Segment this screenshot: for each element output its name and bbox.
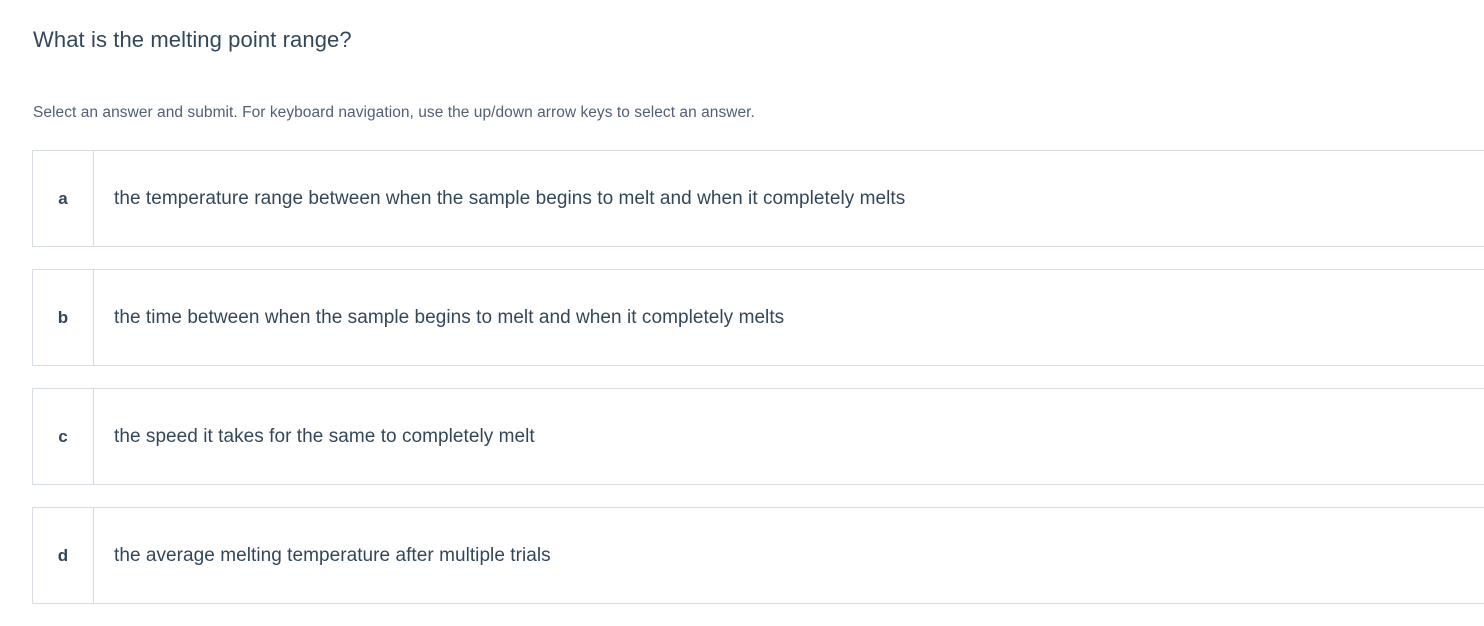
answer-option-a[interactable]: a the temperature range between when the…: [32, 150, 1484, 247]
instruction-text: Select an answer and submit. For keyboar…: [33, 101, 755, 125]
answer-letter-b: b: [33, 270, 94, 365]
quiz-question-page: What is the melting point range? Select …: [0, 0, 1484, 626]
answer-options-list: a the temperature range between when the…: [32, 150, 1484, 626]
answer-text-b: the time between when the sample begins …: [94, 270, 1484, 365]
answer-letter-c: c: [33, 389, 94, 484]
answer-option-d[interactable]: d the average melting temperature after …: [32, 507, 1484, 604]
answer-option-c[interactable]: c the speed it takes for the same to com…: [32, 388, 1484, 485]
answer-text-a: the temperature range between when the s…: [94, 151, 1484, 246]
answer-text-d: the average melting temperature after mu…: [94, 508, 1484, 603]
page-title: What is the melting point range?: [33, 25, 352, 55]
answer-letter-d: d: [33, 508, 94, 603]
answer-text-c: the speed it takes for the same to compl…: [94, 389, 1484, 484]
answer-letter-a: a: [33, 151, 94, 246]
answer-option-b[interactable]: b the time between when the sample begin…: [32, 269, 1484, 366]
